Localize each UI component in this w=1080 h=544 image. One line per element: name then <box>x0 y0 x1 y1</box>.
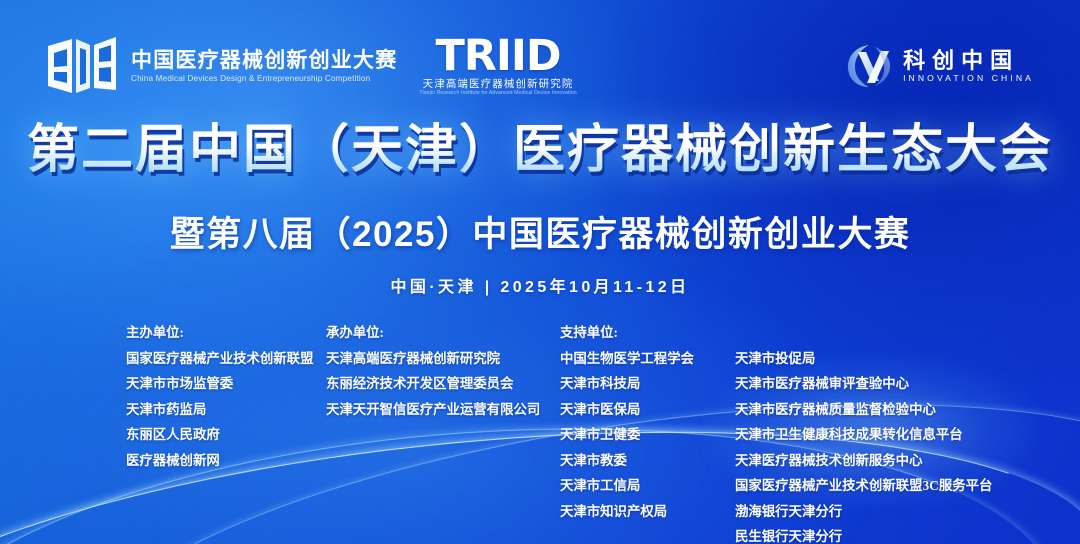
logo-innovation-china-text: 科创中国 INNOVATION CHINA <box>903 50 1034 83</box>
organizer-item: 天津医疗器械技术创新服务中心 <box>735 448 1005 474</box>
organizer-item: 天津市卫生健康科技成果转化信息平台 <box>735 422 1005 448</box>
organizer-item: 天津市医疗器械审评查验中心 <box>735 371 1005 397</box>
organizer-item: 东丽区人民政府 <box>126 422 326 448</box>
logo-cmdc-cn: 中国医疗器械创新创业大赛 <box>131 50 397 71</box>
organizer-item: 中国生物医学工程学会 <box>560 346 735 372</box>
organizer-column-undertaker: 承办单位: 天津高端医疗器械创新研究院 东丽经济技术开发区管理委员会 天津天开智… <box>326 320 560 544</box>
logo-innovation-china: 科创中国 INNOVATION CHINA <box>845 43 1034 89</box>
organizer-item: 渤海银行天津分行 <box>735 499 1005 525</box>
organizer-column-heading: 承办单位: <box>326 320 560 346</box>
header-logo-bar: 中国医疗器械创新创业大赛 China Medical Devices Desig… <box>0 26 1080 106</box>
organizer-item: 天津市投促局 <box>735 346 1005 372</box>
logo-cmdc-text: 中国医疗器械创新创业大赛 China Medical Devices Desig… <box>131 50 397 82</box>
organizer-item: 天津市医疗器械质量监督检验中心 <box>735 397 1005 423</box>
organizer-column-supporter: 支持单位: 中国生物医学工程学会 天津市科技局 天津市医保局 天津市卫健委 天津… <box>560 320 735 544</box>
organizer-column-heading: 主办单位: <box>126 320 326 346</box>
sub-title: 暨第八届（2025）中国医疗器械创新创业大赛 <box>0 216 1080 255</box>
organizer-column-supporter-continued: 天津市投促局 天津市医疗器械审评查验中心 天津市医疗器械质量监督检验中心 天津市… <box>735 320 1005 544</box>
event-poster: 中国医疗器械创新创业大赛 China Medical Devices Desig… <box>0 0 1080 544</box>
logo-triid-wordmark: TRIID <box>435 36 560 77</box>
organizer-item: 天津市教委 <box>560 448 735 474</box>
logo-cmdc-en: China Medical Devices Design & Entrepren… <box>131 74 395 82</box>
organizer-item: 天津市科技局 <box>560 371 735 397</box>
logo-triid-cn: 天津高端医疗器械创新研究院 <box>423 79 574 90</box>
organizer-item: 天津市药监局 <box>126 397 326 423</box>
organizer-item: 天津市卫健委 <box>560 422 735 448</box>
event-date-location: 中国·天津 | 2025年10月11-12日 <box>0 278 1080 297</box>
open-door-mark-icon <box>46 36 118 96</box>
logo-innovation-china-cn: 科创中国 <box>903 50 1034 72</box>
logo-triid-en: Tianjin Research Institute for Advanced … <box>419 91 576 96</box>
organizer-item: 医疗器械创新网 <box>126 448 326 474</box>
organizer-item: 天津市知识产权局 <box>560 499 735 525</box>
organizer-columns: 主办单位: 国家医疗器械产业技术创新联盟 天津市市场监管委 天津市药监局 东丽区… <box>126 320 1032 544</box>
logo-triid: TRIID 天津高端医疗器械创新研究院 Tianjin Research Ins… <box>419 36 576 97</box>
organizer-item: 天津市市场监管委 <box>126 371 326 397</box>
organizer-item: 天津天开智信医疗产业运营有限公司 <box>326 397 560 423</box>
organizer-item: 东丽经济技术开发区管理委员会 <box>326 371 560 397</box>
organizer-column-host: 主办单位: 国家医疗器械产业技术创新联盟 天津市市场监管委 天津市药监局 东丽区… <box>126 320 326 544</box>
organizer-item: 天津市工信局 <box>560 473 735 499</box>
innovation-china-mark-icon <box>845 43 893 89</box>
organizer-item: 天津高端医疗器械创新研究院 <box>326 346 560 372</box>
main-title: 第二届中国（天津）医疗器械创新生态大会 <box>0 122 1080 179</box>
organizer-item: 天津市医保局 <box>560 397 735 423</box>
organizer-item: 民生银行天津分行 <box>735 524 1005 544</box>
organizer-column-heading: 支持单位: <box>560 320 735 346</box>
organizer-item: 国家医疗器械产业技术创新联盟3C服务平台 <box>735 473 1005 499</box>
logo-cmdc: 中国医疗器械创新创业大赛 China Medical Devices Desig… <box>46 36 397 96</box>
logo-innovation-china-en: INNOVATION CHINA <box>903 74 1034 83</box>
organizer-item: 国家医疗器械产业技术创新联盟 <box>126 346 326 372</box>
